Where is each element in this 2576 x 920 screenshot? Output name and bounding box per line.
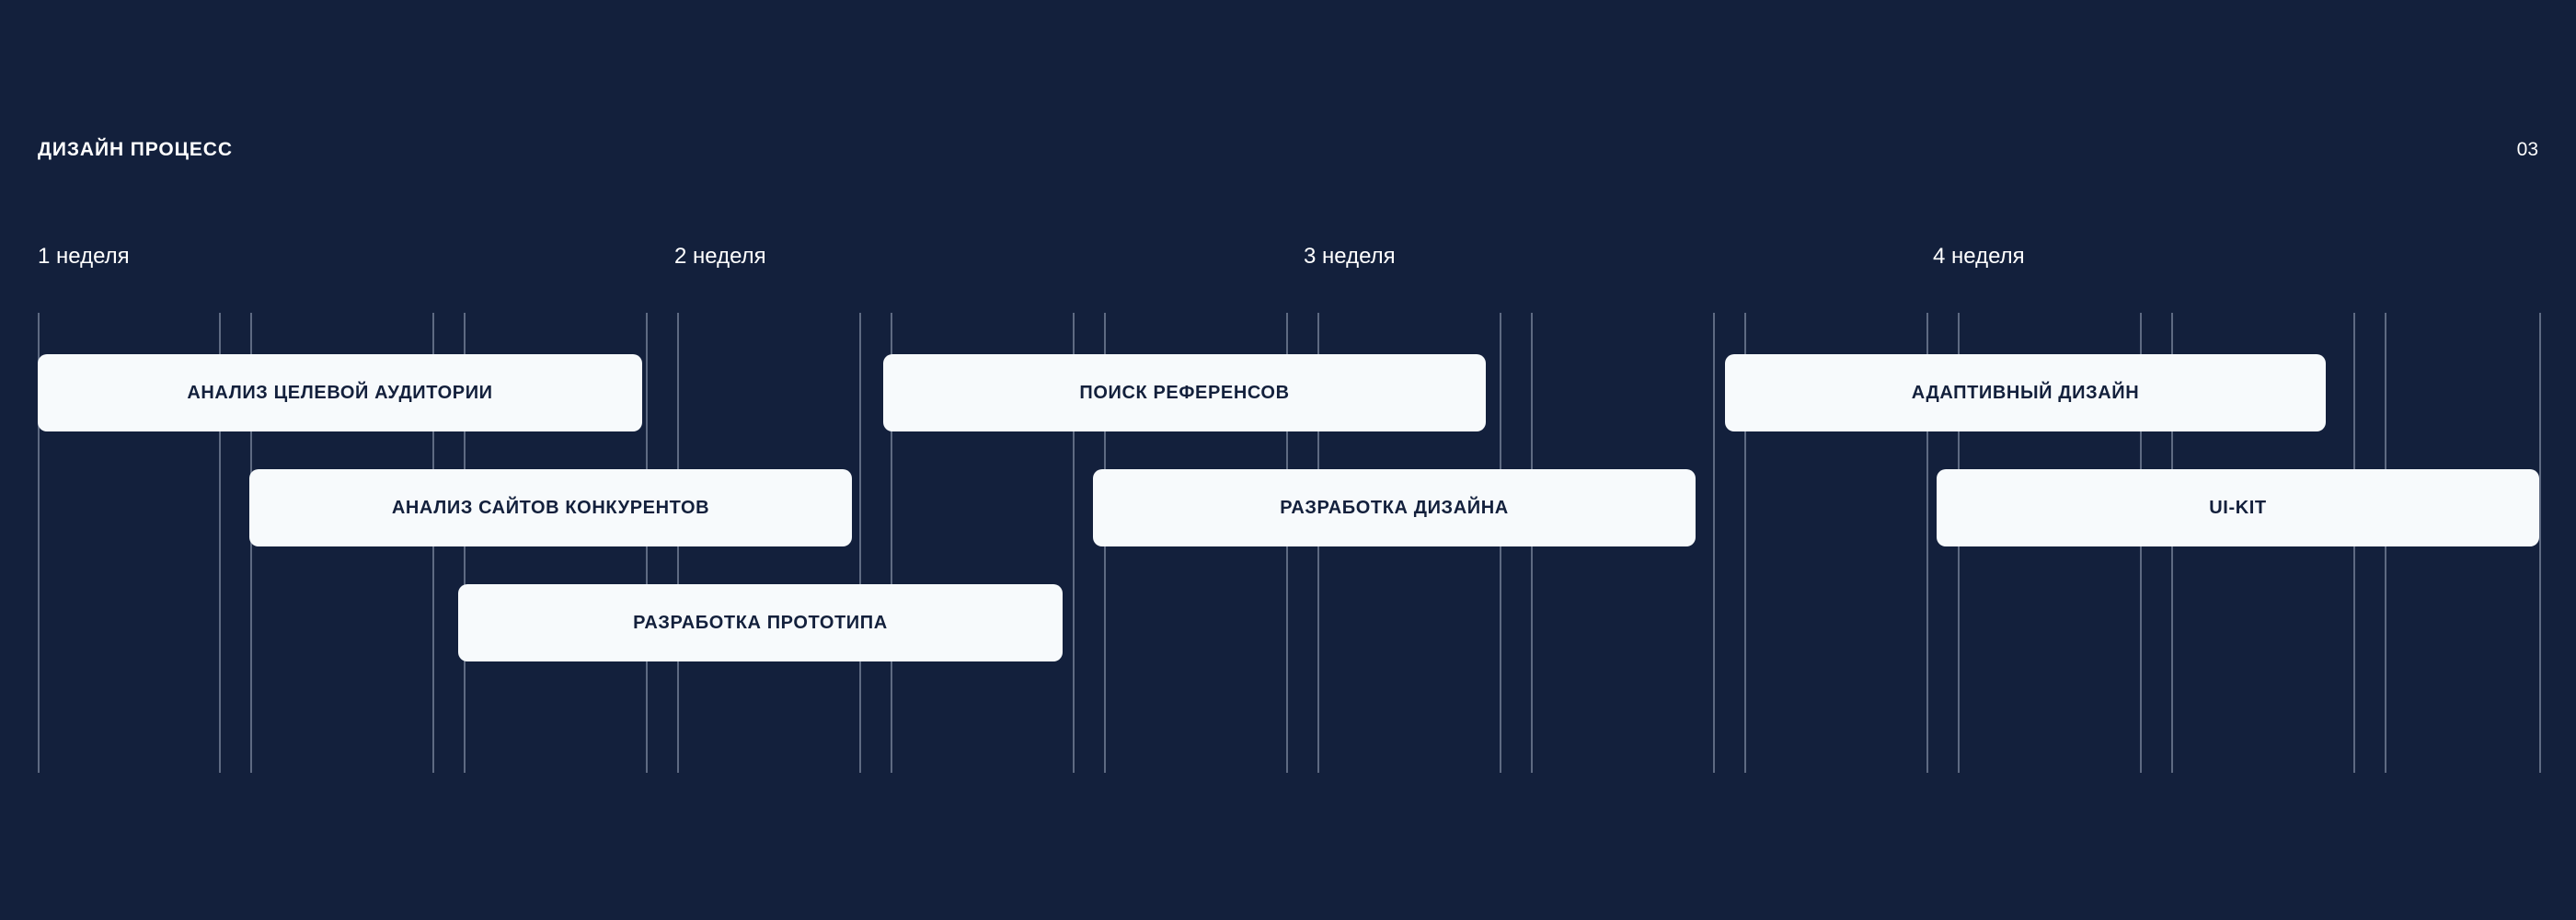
task-bar[interactable]: АНАЛИЗ САЙТОВ КОНКУРЕНТОВ [249, 469, 852, 546]
task-bar[interactable]: АДАПТИВНЫЙ ДИЗАЙН [1725, 354, 2326, 431]
week-label-2: 2 неделя [674, 241, 766, 272]
slide-root: ДИЗАЙН ПРОЦЕСС 03 1 неделя2 неделя3 неде… [0, 0, 2576, 920]
task-bar-label: АНАЛИЗ ЦЕЛЕВОЙ АУДИТОРИИ [187, 383, 492, 404]
slide-header: ДИЗАЙН ПРОЦЕСС 03 [0, 136, 2576, 164]
page-title: ДИЗАЙН ПРОЦЕСС [38, 136, 233, 164]
week-label-4: 4 неделя [1933, 241, 2025, 272]
week-label-3: 3 неделя [1304, 241, 1396, 272]
task-bar-label: UI-KIT [2209, 498, 2266, 519]
task-bar-label: РАЗРАБОТКА ДИЗАЙНА [1280, 498, 1509, 519]
task-bar-label: АДАПТИВНЫЙ ДИЗАЙН [1912, 383, 2140, 404]
task-bar-label: РАЗРАБОТКА ПРОТОТИПА [633, 613, 888, 634]
slide-number: 03 [2517, 136, 2538, 164]
task-bar[interactable]: АНАЛИЗ ЦЕЛЕВОЙ АУДИТОРИИ [38, 354, 642, 431]
timeline-bars: АНАЛИЗ ЦЕЛЕВОЙ АУДИТОРИИПОИСК РЕФЕРЕНСОВ… [0, 313, 2576, 773]
task-bar[interactable]: РАЗРАБОТКА ДИЗАЙНА [1093, 469, 1696, 546]
week-label-row: 1 неделя2 неделя3 неделя4 неделя [0, 241, 2576, 272]
task-bar[interactable]: РАЗРАБОТКА ПРОТОТИПА [458, 584, 1063, 661]
task-bar-label: АНАЛИЗ САЙТОВ КОНКУРЕНТОВ [392, 498, 709, 519]
task-bar-label: ПОИСК РЕФЕРЕНСОВ [1079, 383, 1289, 404]
task-bar[interactable]: ПОИСК РЕФЕРЕНСОВ [883, 354, 1486, 431]
week-label-1: 1 неделя [38, 241, 130, 272]
task-bar[interactable]: UI-KIT [1937, 469, 2539, 546]
